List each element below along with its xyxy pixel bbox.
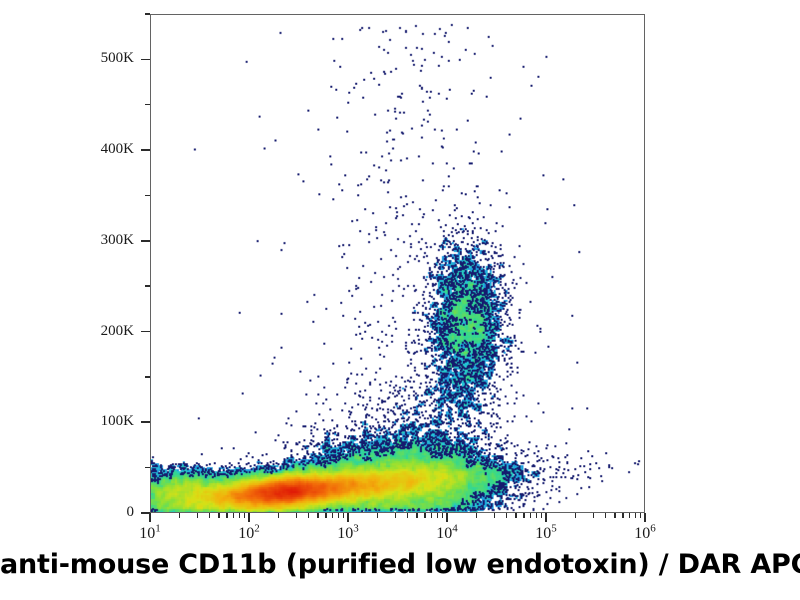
y-tick-major <box>141 331 150 333</box>
x-tick-minor <box>325 513 326 518</box>
x-tick-minor <box>614 513 615 518</box>
y-tick-major <box>141 240 150 242</box>
x-tick-minor <box>494 513 495 518</box>
y-tick-major <box>141 59 150 61</box>
x-tick-minor <box>536 513 537 518</box>
x-tick-label: 102 <box>238 525 260 543</box>
x-tick-minor <box>605 513 606 518</box>
x-tick-minor <box>377 513 378 518</box>
x-tick-minor <box>338 513 339 518</box>
x-tick-minor <box>218 513 219 518</box>
x-tick-minor <box>530 513 531 518</box>
x-tick-minor <box>239 513 240 518</box>
x-tick-minor <box>629 513 630 518</box>
x-tick-minor <box>308 513 309 518</box>
x-tick-minor <box>296 513 297 518</box>
x-tick-label: 104 <box>436 525 458 543</box>
x-tick-minor <box>209 513 210 518</box>
x-tick-minor <box>515 513 516 518</box>
x-tick-minor <box>593 513 594 518</box>
x-tick-label: 103 <box>337 525 359 543</box>
x-tick-minor <box>226 513 227 518</box>
x-tick-minor <box>635 513 636 518</box>
x-tick-minor <box>395 513 396 518</box>
x-tick-label: 101 <box>139 525 161 543</box>
x-tick-label: 106 <box>634 525 656 543</box>
x-axis-title: anti-mouse CD11b (purified low endotoxin… <box>0 549 800 580</box>
x-tick-label: 105 <box>535 525 557 543</box>
x-tick-minor <box>179 513 180 518</box>
x-tick-minor <box>233 513 234 518</box>
x-tick-minor <box>197 513 198 518</box>
x-tick-minor <box>640 513 641 518</box>
y-tick-label: 400K <box>0 141 134 158</box>
x-tick-major <box>644 513 646 522</box>
x-tick-minor <box>244 513 245 518</box>
y-tick-major <box>141 421 150 423</box>
x-tick-minor <box>437 513 438 518</box>
x-tick-minor <box>332 513 333 518</box>
scatter-plot-canvas <box>151 15 644 512</box>
x-tick-minor <box>622 513 623 518</box>
x-tick-minor <box>506 513 507 518</box>
y-tick-label: 500K <box>0 50 134 67</box>
x-tick-major <box>545 513 547 522</box>
x-tick-minor <box>343 513 344 518</box>
y-tick-label: 100K <box>0 413 134 430</box>
x-tick-minor <box>476 513 477 518</box>
x-tick-major <box>446 513 448 522</box>
x-tick-major <box>149 513 151 522</box>
y-tick-label: 300K <box>0 232 134 249</box>
x-tick-minor <box>317 513 318 518</box>
y-tick-label: 0 <box>0 504 134 521</box>
x-tick-major <box>347 513 349 522</box>
flow-cytometry-figure: Side Scatter 0100K200K300K400K500K 10110… <box>0 0 800 600</box>
x-tick-minor <box>416 513 417 518</box>
x-tick-minor <box>442 513 443 518</box>
x-tick-minor <box>431 513 432 518</box>
x-tick-minor <box>523 513 524 518</box>
x-tick-minor <box>407 513 408 518</box>
x-tick-minor <box>424 513 425 518</box>
x-tick-major <box>248 513 250 522</box>
y-tick-label: 200K <box>0 323 134 340</box>
x-tick-minor <box>575 513 576 518</box>
x-tick-minor <box>541 513 542 518</box>
y-tick-major <box>141 149 150 151</box>
plot-area <box>150 14 645 513</box>
x-tick-minor <box>278 513 279 518</box>
